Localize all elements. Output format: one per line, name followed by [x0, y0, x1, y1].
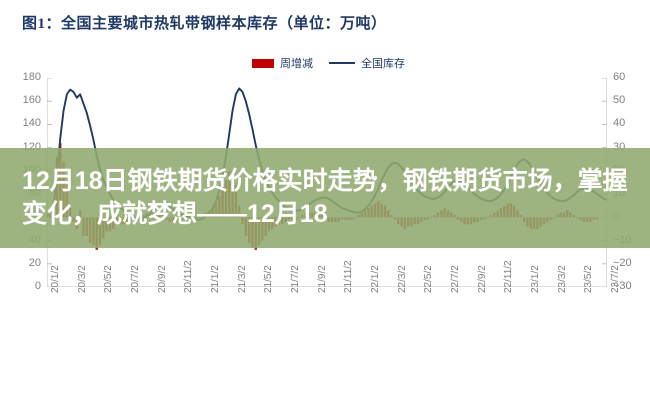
x-axis-tick: 20/11/2: [184, 260, 194, 293]
x-axis-tick: 20/1/2: [51, 265, 61, 293]
x-axis-tick: 21/5/2: [264, 265, 274, 293]
x-axis-tick: 22/1/2: [371, 265, 381, 293]
x-axis-tick: 23/5/2: [584, 265, 594, 293]
x-axis-tick: 21/9/2: [318, 265, 328, 293]
y-axis-tick-left: 180: [1, 72, 41, 83]
y-axis-tick-right: 60: [613, 72, 650, 83]
x-axis-tick: 23/1/2: [531, 265, 541, 293]
x-axis-tick: 20/3/2: [78, 265, 88, 293]
x-axis-tick: 21/3/2: [238, 265, 248, 293]
x-axis-tick: 22/11/2: [504, 260, 514, 293]
y-axis-tick-left: 20: [1, 258, 41, 269]
y-axis-tick-left: 0: [1, 281, 41, 292]
x-axis-tick: 21/1/2: [211, 265, 221, 293]
y-axis-tick-left: 160: [1, 95, 41, 106]
x-axis-tick: 23/3/2: [558, 265, 568, 293]
promo-banner-text: 12月18日钢铁期货价格实时走势，钢铁期货市场，掌握变化，成就梦想——12月18: [0, 150, 650, 246]
x-axis-tick: 20/9/2: [158, 265, 168, 293]
y-axis-tick-right: 40: [613, 118, 650, 129]
x-axis-tick: 22/3/2: [398, 265, 408, 293]
x-axis-tick: 22/5/2: [424, 265, 434, 293]
x-axis-tick: 21/7/2: [291, 265, 301, 293]
x-axis-tick: 23/7/2: [611, 265, 621, 293]
x-axis-tick: 22/9/2: [478, 265, 488, 293]
x-axis-tick: 20/7/2: [131, 265, 141, 293]
x-axis-tick: 22/7/2: [451, 265, 461, 293]
x-axis-tick: 21/11/2: [344, 260, 354, 293]
figure-container: 图1：全国主要城市热轧带钢样本库存（单位：万吨） 周增减 全国库存 020406…: [0, 0, 650, 400]
x-axis-tick: 20/5/2: [104, 265, 114, 293]
y-axis-tick-right: 50: [613, 95, 650, 106]
y-axis-tick-left: 140: [1, 118, 41, 129]
